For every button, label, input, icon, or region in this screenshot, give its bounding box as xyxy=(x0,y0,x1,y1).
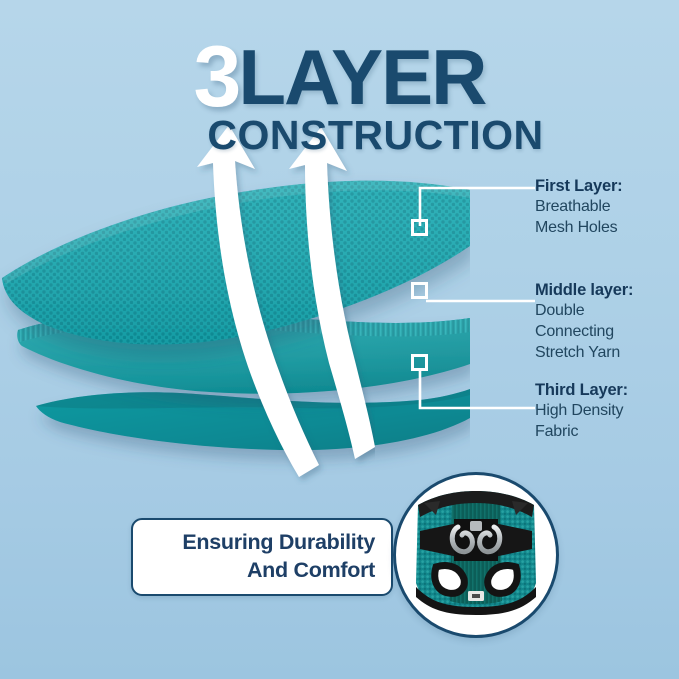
title-row: 3 LAYER xyxy=(0,38,679,120)
connector-first-layer xyxy=(411,186,535,236)
title-main-word: LAYER xyxy=(238,38,485,116)
tagline-line-1: Ensuring Durability xyxy=(182,529,375,557)
callout-body: Breathable Mesh Holes xyxy=(535,197,679,239)
callout-heading: Middle layer: xyxy=(535,280,679,301)
square-marker-icon-first xyxy=(411,219,428,236)
arrow-up-right-icon xyxy=(289,127,375,459)
airflow-arrows xyxy=(195,125,375,485)
callout-heading: First Layer: xyxy=(535,176,679,197)
infographic-canvas: 3 LAYER CONSTRUCTION First Layer: Breath… xyxy=(0,0,679,679)
connector-middle-layer xyxy=(426,290,535,294)
square-marker-icon-middle xyxy=(411,282,428,299)
arrow-up-left-icon xyxy=(197,125,319,477)
callout-body: Double Connecting Stretch Yarn xyxy=(535,301,679,363)
callout-heading: Third Layer: xyxy=(535,380,679,401)
tagline-box: Ensuring Durability And Comfort xyxy=(131,518,393,596)
tagline-text: Ensuring Durability And Comfort xyxy=(182,529,375,585)
callout-third-layer: Third Layer: High Density Fabric xyxy=(535,380,679,443)
product-image-circle xyxy=(393,472,559,638)
callout-body: High Density Fabric xyxy=(535,401,679,443)
square-marker-icon-third xyxy=(411,354,428,371)
callout-middle-layer: Middle layer: Double Connecting Stretch … xyxy=(535,280,679,364)
callout-first-layer: First Layer: Breathable Mesh Holes xyxy=(535,176,679,239)
tagline-line-2: And Comfort xyxy=(182,557,375,585)
connector-third-layer xyxy=(411,370,535,412)
title-number: 3 xyxy=(193,34,238,120)
teal-dog-harness-illustration xyxy=(396,475,556,635)
